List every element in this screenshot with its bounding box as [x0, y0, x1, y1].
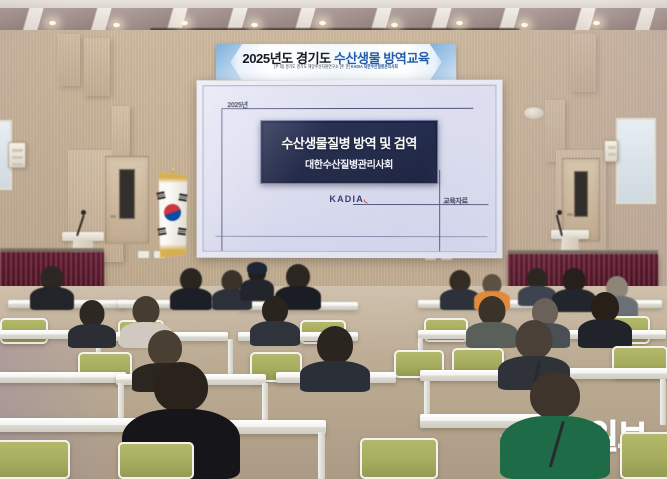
person-torso [300, 361, 370, 392]
audience-member [170, 268, 212, 310]
door-handle[interactable] [110, 215, 116, 218]
kadia-logo-text: KADIA [329, 194, 363, 204]
person-head [530, 372, 580, 419]
ceiling-downlight-icon [592, 20, 601, 26]
slide-guide-vertical-left [221, 108, 222, 252]
podium-surface [551, 230, 589, 239]
door-handle[interactable] [567, 213, 573, 216]
event-banner: 2025년도 경기도 수산생물 방역교육 [주 최] 경기도 경기도 해양수산자… [216, 44, 457, 80]
window-right [616, 118, 656, 204]
ceiling-speaker-icon [523, 106, 545, 120]
slide-title: 수산생물질병 방역 및 검역 [281, 133, 416, 152]
person-head [516, 320, 553, 359]
person-head [133, 296, 160, 325]
person-torso [578, 319, 632, 348]
banner-host: 경기도 경기도 해양수산자원연구소 [285, 64, 338, 69]
chair[interactable] [620, 432, 667, 479]
projection-screen: 2025년 교육자료 수산생물질병 방역 및 검역 대한수산질병관리사회 KAD… [197, 80, 503, 259]
chair[interactable] [0, 440, 70, 479]
desk-leg [318, 432, 325, 479]
slide-guide-vertical-right [439, 170, 440, 252]
person-head [148, 330, 182, 366]
ceiling-downlight-icon [112, 22, 121, 28]
person-head [591, 292, 619, 322]
banner-subtitle: [주 최] 경기도 경기도 해양수산자원연구소 [주 관] KADIA 대한수산… [216, 64, 456, 70]
person-torso [170, 288, 212, 310]
desk [0, 372, 126, 383]
wall-switch-plate-icon[interactable] [8, 142, 26, 168]
ceiling-downlight-icon [520, 22, 529, 28]
ceiling-downlight-icon [250, 22, 259, 28]
slide-label-material: 교육자료 [443, 196, 468, 206]
chair[interactable] [118, 442, 194, 479]
chair[interactable] [360, 438, 438, 479]
slide-label-year: 2025년 [227, 100, 247, 110]
door-left[interactable] [105, 156, 149, 244]
wall-switch-plate-icon[interactable] [604, 140, 618, 162]
slide-guide-baseline [215, 236, 487, 237]
person-torso [68, 324, 116, 348]
korean-flag-icon [152, 168, 196, 268]
ceiling-downlight-icon [318, 20, 327, 26]
person-head [154, 362, 208, 412]
person-head [317, 326, 353, 364]
slide-title-box: 수산생물질병 방역 및 검역 대한수산질병관리사회 [260, 120, 438, 184]
audience-member [68, 300, 116, 348]
door-window [574, 171, 588, 217]
banner-org-label: [주 관] [340, 64, 350, 69]
slide-subtitle: 대한수산질병관리사회 [305, 156, 393, 171]
microphone-head-icon [81, 210, 86, 215]
ceiling-downlight-icon [48, 20, 57, 26]
banner-org: KADIA 대한수산질병관리사회 [351, 64, 398, 69]
seminar-room-photo: 2025년도 경기도 수산생물 방역교육 [주 최] 경기도 경기도 해양수산자… [0, 0, 667, 479]
ceiling-downlight-icon [180, 20, 189, 26]
ceiling-downlight-icon [390, 22, 399, 28]
wall-outlet-icon[interactable] [137, 250, 150, 259]
audience-member [300, 326, 370, 392]
audience-member [578, 292, 632, 348]
ceiling-downlight-icon [455, 20, 464, 26]
audience-member [250, 296, 300, 346]
projected-slide: 2025년 교육자료 수산생물질병 방역 및 검역 대한수산질병관리사회 KAD… [203, 85, 497, 253]
banner-host-label: [주 최] [274, 64, 284, 69]
kadia-logo: KADIA◟ [329, 194, 368, 205]
slide-guide-horizontal-top [221, 108, 473, 109]
person-cap [247, 262, 267, 274]
microphone-head-icon [557, 210, 562, 215]
kadia-logo-mark: ◟ [364, 194, 369, 204]
desk-leg [660, 379, 666, 425]
audience-member [500, 372, 610, 479]
person-head [262, 296, 288, 324]
person-torso [250, 321, 300, 346]
flag-gold-fringe [154, 172, 192, 258]
door-window [119, 169, 135, 219]
person-head [80, 300, 105, 327]
podium-surface [62, 232, 104, 241]
flag-finial [171, 168, 175, 173]
